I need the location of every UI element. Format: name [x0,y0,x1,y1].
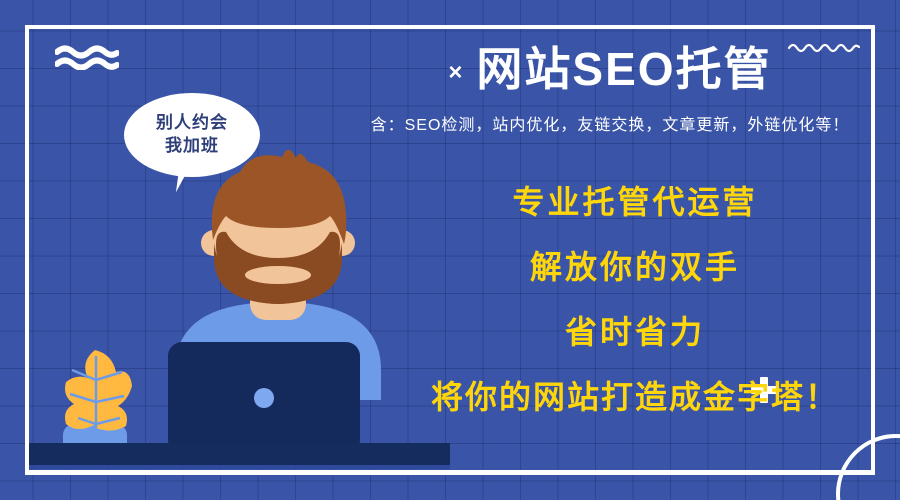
poster-canvas: × 网站SEO托管 含：SEO检测，站内优化，友链交换，文章更新，外链优化等！ … [0,0,900,500]
claims-list: 专业托管代运营 解放你的双手 省时省力 将你的网站打造成金字塔！ [380,186,890,413]
claim-item: 解放你的双手 [380,251,890,283]
speech-bubble-line-2: 我加班 [165,135,219,158]
claim-item: 将你的网站打造成金字塔！ [380,381,890,413]
title-row: × 网站SEO托管 [330,44,890,95]
headline-block: × 网站SEO托管 含：SEO检测，站内优化，友链交换，文章更新，外链优化等！ [330,44,890,135]
wave-lines-icon [55,44,119,70]
close-x-icon: × [448,61,462,85]
page-title: 网站SEO托管 [476,44,771,95]
claim-item: 省时省力 [380,316,890,348]
speech-bubble-line-1: 别人约会 [156,112,228,135]
page-subtitle: 含：SEO检测，站内优化，友链交换，文章更新，外链优化等！ [330,111,890,135]
claim-item: 专业托管代运营 [380,186,890,218]
speech-bubble: 别人约会 我加班 [124,93,260,177]
